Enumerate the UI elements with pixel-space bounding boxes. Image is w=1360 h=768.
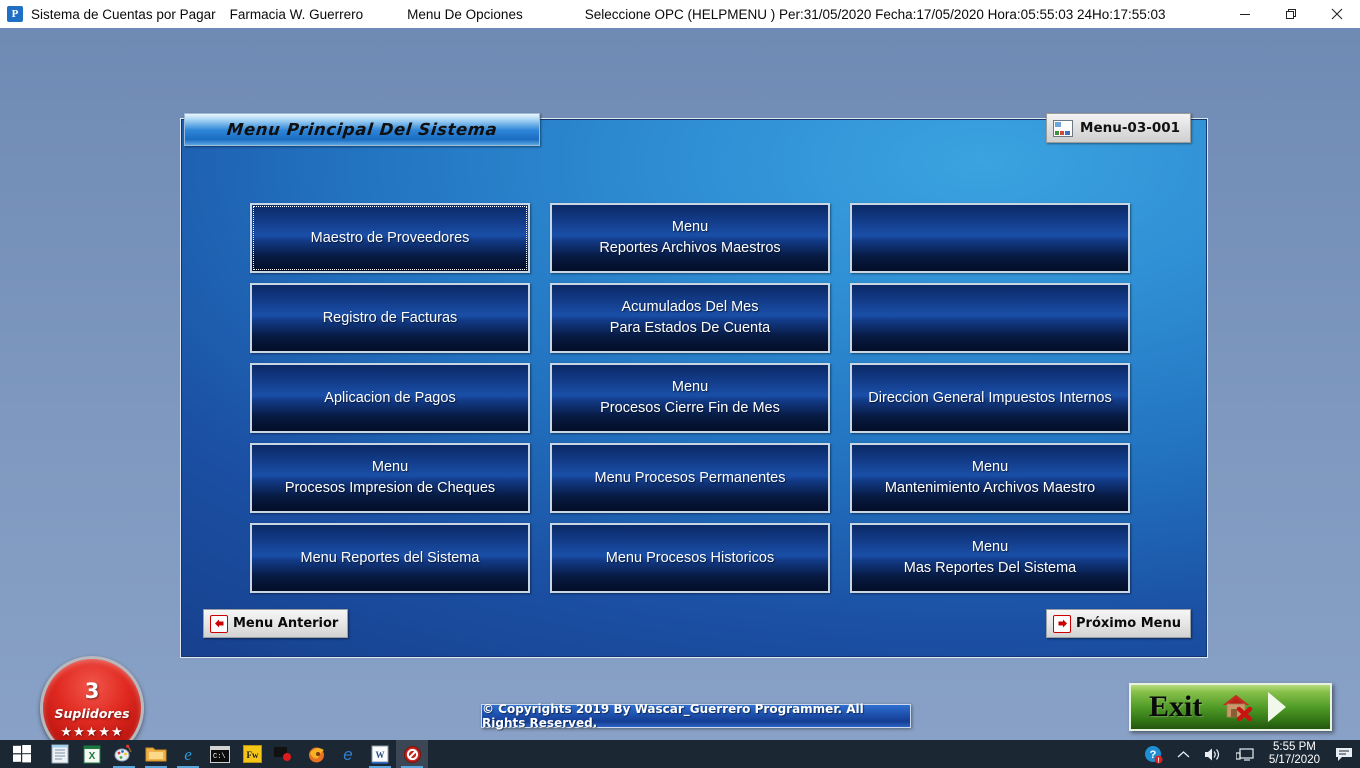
menu-button-line1: Registro de Facturas bbox=[323, 308, 458, 329]
menu-button-procesos-cierre-fin-de-mes[interactable]: Menu Procesos Cierre Fin de Mes bbox=[550, 363, 830, 433]
svg-text:!: ! bbox=[1157, 757, 1159, 764]
desktop-background: Menu Principal Del Sistema Menu-03-001 M… bbox=[0, 28, 1360, 740]
badge-stars: ★★★★★ bbox=[60, 724, 123, 740]
svg-text:W: W bbox=[376, 750, 385, 760]
internet-explorer-icon[interactable]: e bbox=[172, 740, 204, 768]
fireworks-icon[interactable]: Fw bbox=[236, 740, 268, 768]
command-prompt-icon[interactable]: C:\ bbox=[204, 740, 236, 768]
menu-label: Menu De Opciones bbox=[407, 7, 523, 22]
house-close-icon bbox=[1220, 692, 1254, 722]
minimize-icon[interactable] bbox=[1222, 0, 1268, 28]
copyright-banner: © Copyrights 2019 By Wascar_Guerrero Pro… bbox=[481, 704, 911, 728]
badge-count: 3 bbox=[85, 681, 100, 702]
menu-id-label: Menu-03-001 bbox=[1080, 120, 1180, 136]
menu-button-line1: Maestro de Proveedores bbox=[311, 228, 470, 249]
menu-button-procesos-historicos[interactable]: Menu Procesos Historicos bbox=[550, 523, 830, 593]
wordpad-icon[interactable]: W bbox=[364, 740, 396, 768]
window-titlebar: P Sistema de Cuentas por Pagar Farmacia … bbox=[0, 0, 1360, 29]
menu-button-empty-2[interactable] bbox=[850, 283, 1130, 353]
notepad-icon[interactable] bbox=[44, 740, 76, 768]
menu-button-line2: Procesos Impresion de Cheques bbox=[285, 478, 495, 499]
clock[interactable]: 5:55 PM 5/17/2020 bbox=[1261, 741, 1328, 767]
menu-button-line1: Aplicacion de Pagos bbox=[324, 388, 455, 409]
network-display-icon[interactable] bbox=[1229, 740, 1261, 768]
company-name: Farmacia W. Guerrero bbox=[230, 7, 364, 22]
main-menu-panel: Menu Principal Del Sistema Menu-03-001 M… bbox=[180, 118, 1208, 658]
svg-text:e: e bbox=[343, 745, 352, 764]
arrow-left-icon bbox=[210, 615, 228, 633]
file-explorer-icon[interactable] bbox=[140, 740, 172, 768]
windows-start-icon[interactable] bbox=[0, 740, 44, 768]
window-title: Sistema de Cuentas por Pagar bbox=[31, 7, 216, 22]
menu-button-empty-1[interactable] bbox=[850, 203, 1130, 273]
menu-button-line2: Procesos Cierre Fin de Mes bbox=[600, 398, 780, 419]
menu-button-line1: Direccion General Impuestos Internos bbox=[868, 388, 1111, 409]
menu-button-maestro-de-proveedores[interactable]: Maestro de Proveedores bbox=[250, 203, 530, 273]
firefox-icon[interactable] bbox=[300, 740, 332, 768]
edge-icon[interactable]: e bbox=[332, 740, 364, 768]
app-block-icon[interactable] bbox=[396, 740, 428, 768]
paint-icon[interactable] bbox=[108, 740, 140, 768]
play-arrow-icon bbox=[1266, 690, 1288, 724]
menu-button-line1: Acumulados Del Mes bbox=[622, 297, 759, 318]
status-text: Seleccione OPC (HELPMENU ) Per:31/05/202… bbox=[585, 7, 1166, 22]
screen-recorder-icon[interactable] bbox=[268, 740, 300, 768]
menu-button-aplicacion-de-pagos[interactable]: Aplicacion de Pagos bbox=[250, 363, 530, 433]
menu-button-line1: Menu bbox=[972, 537, 1008, 558]
taskbar: X e C:\ Fw bbox=[0, 740, 1360, 768]
form-caption-bar: Menu Principal Del Sistema bbox=[184, 113, 540, 146]
arrow-right-icon bbox=[1053, 615, 1071, 633]
menu-button-direccion-general-impuestos-internos[interactable]: Direccion General Impuestos Internos bbox=[850, 363, 1130, 433]
menu-button-line1: Menu Procesos Historicos bbox=[606, 548, 774, 569]
previous-menu-button[interactable]: Menu Anterior bbox=[203, 609, 348, 638]
system-tray: ? ! 5:55 PM 5/17/2020 bbox=[1137, 740, 1360, 768]
menu-button-procesos-permanentes[interactable]: Menu Procesos Permanentes bbox=[550, 443, 830, 513]
page-title: Menu Principal Del Sistema bbox=[226, 120, 498, 139]
menu-id-badge: Menu-03-001 bbox=[1046, 113, 1191, 143]
menu-button-line2: Para Estados De Cuenta bbox=[610, 318, 770, 339]
chevron-up-icon[interactable] bbox=[1170, 740, 1197, 768]
maximize-icon[interactable] bbox=[1268, 0, 1314, 28]
exit-button[interactable]: Exit bbox=[1129, 683, 1332, 731]
svg-text:e: e bbox=[184, 745, 192, 764]
svg-text:X: X bbox=[89, 751, 96, 762]
menu-button-line2: Reportes Archivos Maestros bbox=[599, 238, 780, 259]
next-menu-button[interactable]: Próximo Menu bbox=[1046, 609, 1191, 638]
previous-menu-label: Menu Anterior bbox=[233, 616, 338, 631]
notification-icon[interactable] bbox=[1328, 740, 1360, 768]
menu-button-line1: Menu bbox=[972, 457, 1008, 478]
window-controls bbox=[1222, 0, 1360, 28]
menu-button-reportes-del-sistema[interactable]: Menu Reportes del Sistema bbox=[250, 523, 530, 593]
window-thumbnail-icon bbox=[1053, 120, 1073, 137]
badge-label: Suplidores bbox=[54, 706, 129, 721]
menu-button-line1: Menu bbox=[372, 457, 408, 478]
excel-icon[interactable]: X bbox=[76, 740, 108, 768]
svg-text:Fw: Fw bbox=[246, 750, 258, 760]
menu-button-line1: Menu Reportes del Sistema bbox=[301, 548, 480, 569]
speaker-icon[interactable] bbox=[1197, 740, 1229, 768]
menu-button-line2: Mas Reportes Del Sistema bbox=[904, 558, 1076, 579]
menu-button-line1: Menu Procesos Permanentes bbox=[594, 468, 785, 489]
menu-button-registro-de-facturas[interactable]: Registro de Facturas bbox=[250, 283, 530, 353]
menu-button-procesos-impresion-de-cheques[interactable]: Menu Procesos Impresion de Cheques bbox=[250, 443, 530, 513]
menu-button-grid: Maestro de Proveedores Menu Reportes Arc… bbox=[250, 203, 1130, 593]
next-menu-label: Próximo Menu bbox=[1076, 616, 1181, 631]
close-icon[interactable] bbox=[1314, 0, 1360, 28]
help-alert-icon[interactable]: ? ! bbox=[1137, 740, 1170, 768]
menu-button-acumulados-del-mes[interactable]: Acumulados Del Mes Para Estados De Cuent… bbox=[550, 283, 830, 353]
app-icon: P bbox=[7, 6, 23, 22]
menu-button-mantenimiento-archivos-maestro[interactable]: Menu Mantenimiento Archivos Maestro bbox=[850, 443, 1130, 513]
menu-button-mas-reportes-del-sistema[interactable]: Menu Mas Reportes Del Sistema bbox=[850, 523, 1130, 593]
exit-label: Exit bbox=[1149, 690, 1202, 724]
svg-text:C:\: C:\ bbox=[213, 753, 226, 761]
menu-button-line1: Menu bbox=[672, 377, 708, 398]
menu-button-line1: Menu bbox=[672, 217, 708, 238]
clock-time: 5:55 PM bbox=[1273, 741, 1316, 754]
clock-date: 5/17/2020 bbox=[1269, 754, 1320, 767]
menu-button-line2: Mantenimiento Archivos Maestro bbox=[885, 478, 1095, 499]
menu-button-reportes-archivos-maestros[interactable]: Menu Reportes Archivos Maestros bbox=[550, 203, 830, 273]
